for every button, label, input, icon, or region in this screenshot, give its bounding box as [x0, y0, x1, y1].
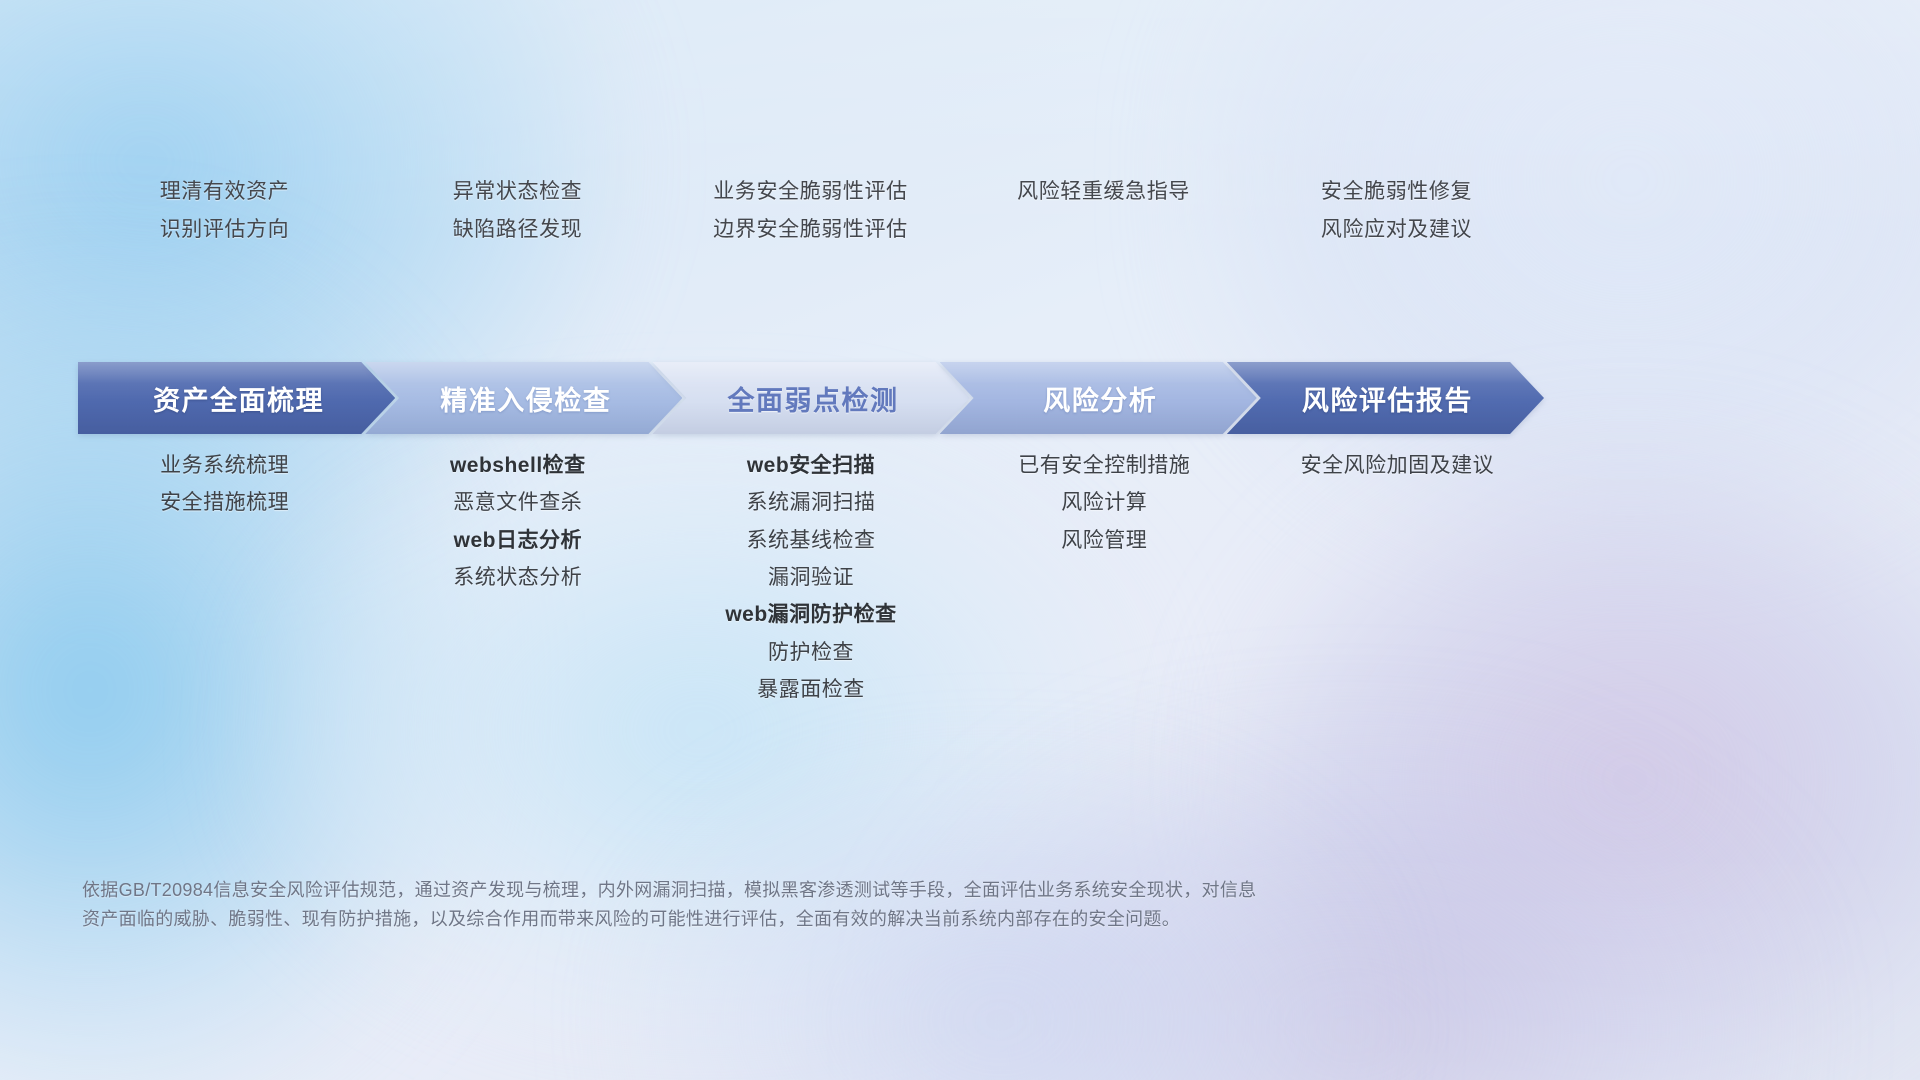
stage-chevron-risk-analysis[interactable]: 风险分析: [940, 362, 1257, 434]
list-item: web日志分析: [454, 527, 582, 555]
list-item: 系统漏洞扫描: [747, 489, 876, 517]
stage-label: 资产全面梳理: [149, 379, 324, 418]
list-item: 风险计算: [1061, 489, 1147, 517]
list-item: 系统状态分析: [453, 564, 582, 592]
bottom-list-3: web安全扫描 系统漏洞扫描 系统基线检查 漏洞验证 web漏洞防护检查 防护检…: [664, 452, 957, 704]
stage-chevron-asset-inventory[interactable]: 资产全面梳理: [78, 362, 395, 434]
list-item: 防护检查: [768, 639, 854, 667]
list-item: 已有安全控制措施: [1018, 452, 1190, 480]
list-item: 漏洞验证: [768, 564, 854, 592]
bottom-list-2: webshell检查 恶意文件查杀 web日志分析 系统状态分析: [371, 452, 664, 592]
top-labels-row: 理清有效资产 识别评估方向 异常状态检查 缺陷路径发现 业务安全脆弱性评估 边界…: [78, 178, 1543, 288]
top-label-line: 理清有效资产: [160, 178, 290, 206]
top-label-line: 边界安全脆弱性评估: [713, 216, 907, 244]
stage-label: 风险评估报告: [1298, 379, 1473, 418]
top-label-line: 风险应对及建议: [1321, 216, 1472, 244]
top-label-group-5: 安全脆弱性修复 风险应对及建议: [1250, 178, 1543, 288]
process-diagram: 理清有效资产 识别评估方向 异常状态检查 缺陷路径发现 业务安全脆弱性评估 边界…: [0, 0, 1920, 1080]
top-label-group-3: 业务安全脆弱性评估 边界安全脆弱性评估: [664, 178, 957, 288]
list-item: webshell检查: [450, 452, 586, 480]
footer-line-1: 依据GB/T20984信息安全风险评估规范，通过资产发现与梳理，内外网漏洞扫描，…: [82, 876, 1562, 905]
stage-label: 精准入侵检查: [436, 379, 611, 418]
top-label-group-2: 异常状态检查 缺陷路径发现: [371, 178, 664, 288]
list-item: 系统基线检查: [747, 527, 876, 555]
top-label-line: 业务安全脆弱性评估: [713, 178, 907, 206]
top-label-line: 安全脆弱性修复: [1321, 178, 1472, 206]
bottom-detail-row: 业务系统梳理 安全措施梳理 webshell检查 恶意文件查杀 web日志分析 …: [78, 452, 1544, 712]
stage-label: 全面弱点检测: [724, 379, 899, 418]
stage-chevron-risk-report[interactable]: 风险评估报告: [1227, 362, 1544, 434]
top-label-line: 风险轻重缓急指导: [1017, 178, 1190, 206]
top-label-group-4: 风险轻重缓急指导: [957, 178, 1250, 288]
list-item: 业务系统梳理: [160, 452, 289, 480]
list-item: 风险管理: [1061, 527, 1147, 555]
list-item: 安全风险加固及建议: [1301, 452, 1495, 480]
stage-chevron-intrusion-check[interactable]: 精准入侵检查: [365, 362, 682, 434]
bottom-list-4: 已有安全控制措施 风险计算 风险管理: [958, 452, 1251, 555]
top-label-line: 异常状态检查: [453, 178, 583, 206]
bottom-list-1: 业务系统梳理 安全措施梳理: [78, 452, 371, 518]
stage-chevron-band: 资产全面梳理 精准入侵检查 全面弱点检测 风险分析 风险评估报告: [78, 362, 1544, 434]
list-item: 暴露面检查: [757, 676, 865, 704]
footer-note: 依据GB/T20984信息安全风险评估规范，通过资产发现与梳理，内外网漏洞扫描，…: [82, 876, 1562, 934]
list-item: 恶意文件查杀: [453, 489, 582, 517]
stage-label: 风险分析: [1039, 379, 1157, 418]
list-item: web安全扫描: [747, 452, 875, 480]
top-label-line: 缺陷路径发现: [453, 216, 583, 244]
top-label-group-1: 理清有效资产 识别评估方向: [78, 178, 371, 288]
footer-line-2: 资产面临的威胁、脆弱性、现有防护措施，以及综合作用而带来风险的可能性进行评估，全…: [82, 905, 1562, 934]
list-item: web漏洞防护检查: [725, 601, 896, 629]
list-item: 安全措施梳理: [160, 489, 289, 517]
stage-chevron-weakness-detection[interactable]: 全面弱点检测: [652, 362, 969, 434]
top-label-line: 识别评估方向: [160, 216, 290, 244]
bottom-list-5: 安全风险加固及建议: [1251, 452, 1544, 480]
